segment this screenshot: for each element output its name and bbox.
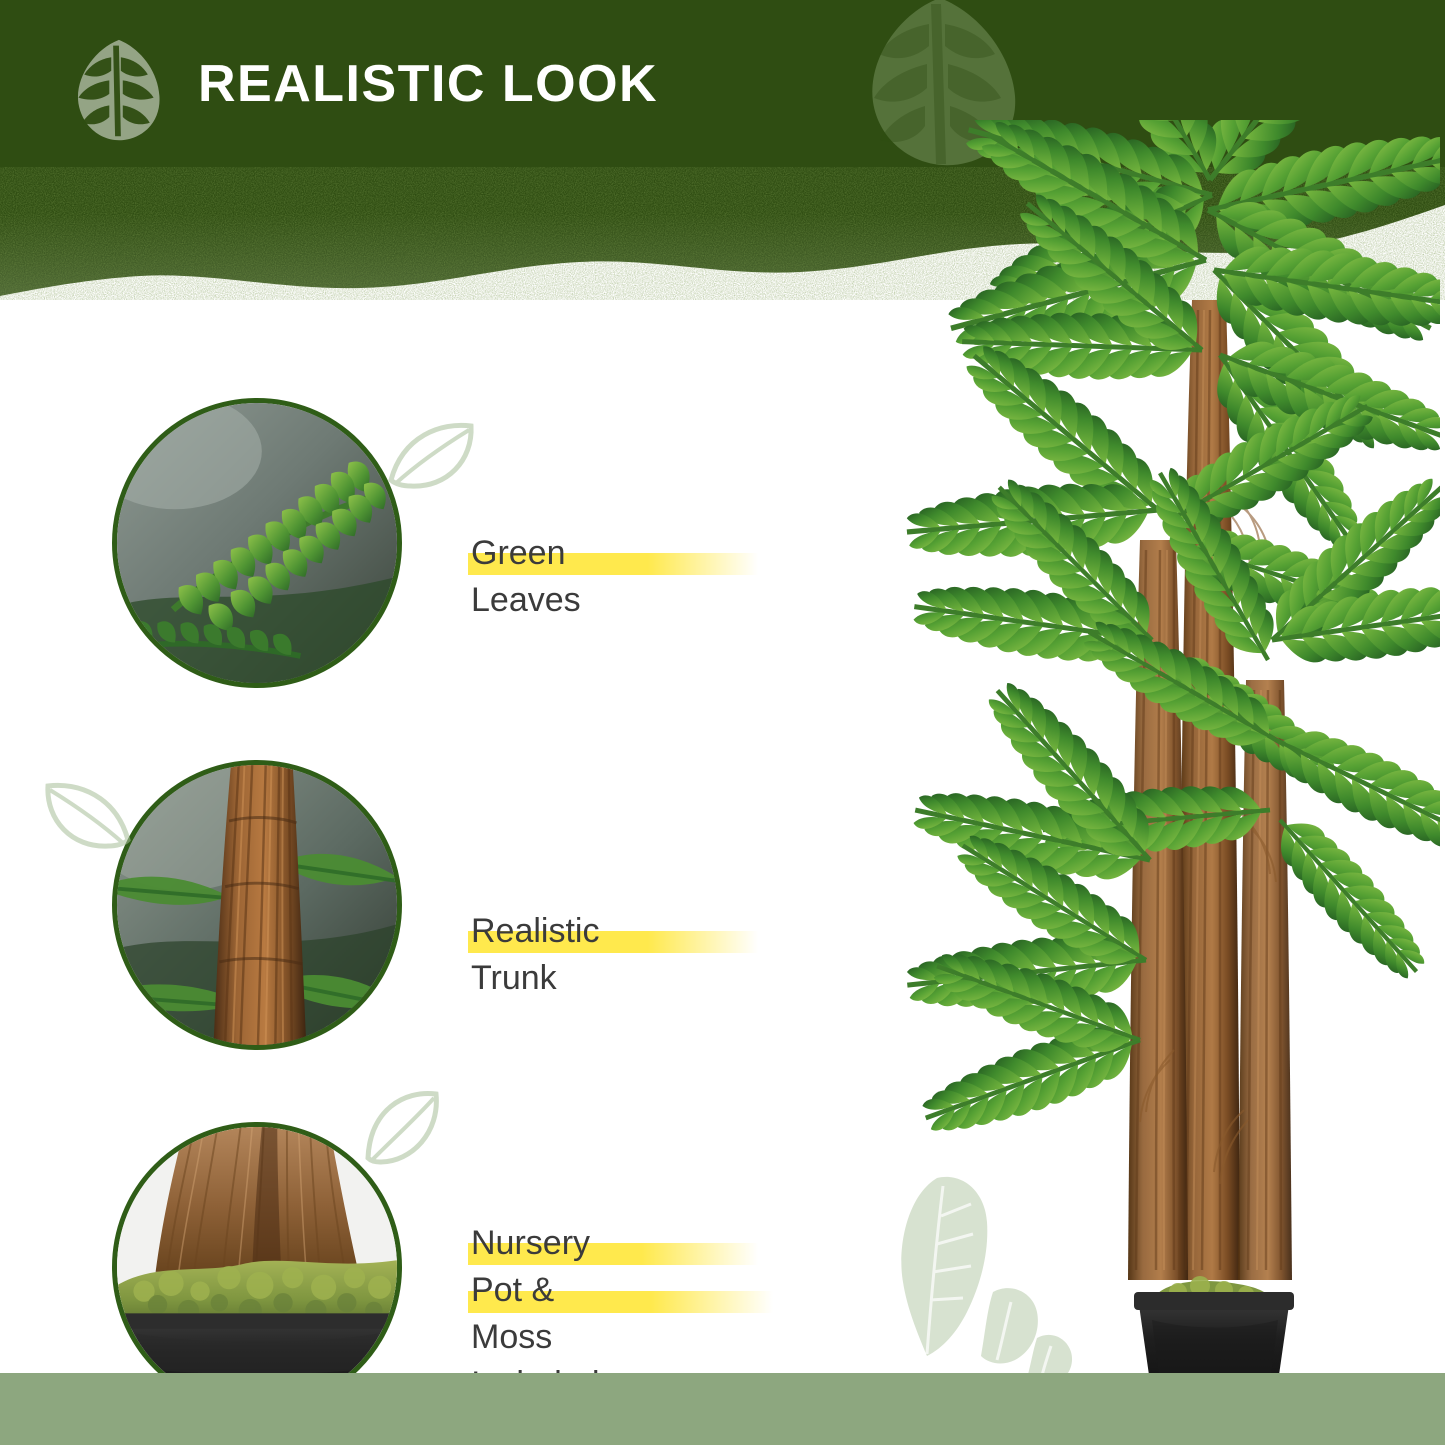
leaf-outline-icon xyxy=(385,418,477,492)
fern-leaf-photo xyxy=(117,403,397,683)
feature-label-realistic-trunk: Realistic Trunk xyxy=(471,908,599,1002)
leaf-outline-icon xyxy=(42,778,134,852)
pot-moss-photo xyxy=(117,1127,397,1407)
artificial-fern-palm-tree xyxy=(840,120,1440,1420)
footer-bar xyxy=(0,1373,1445,1445)
feature-image-realistic-trunk xyxy=(112,760,402,1050)
leaf-outline-icon xyxy=(360,1088,444,1168)
feature-image-green-leaves xyxy=(112,398,402,688)
trunk-photo xyxy=(117,765,397,1045)
product-image xyxy=(840,120,1440,1420)
feature-image-nursery-pot xyxy=(112,1122,402,1412)
product-infographic-page: REALISTIC LOOK xyxy=(0,0,1445,1445)
page-title: REALISTIC LOOK xyxy=(198,54,658,114)
monstera-leaf-icon xyxy=(68,36,166,142)
feature-label-green-leaves: Green Leaves xyxy=(471,530,581,624)
